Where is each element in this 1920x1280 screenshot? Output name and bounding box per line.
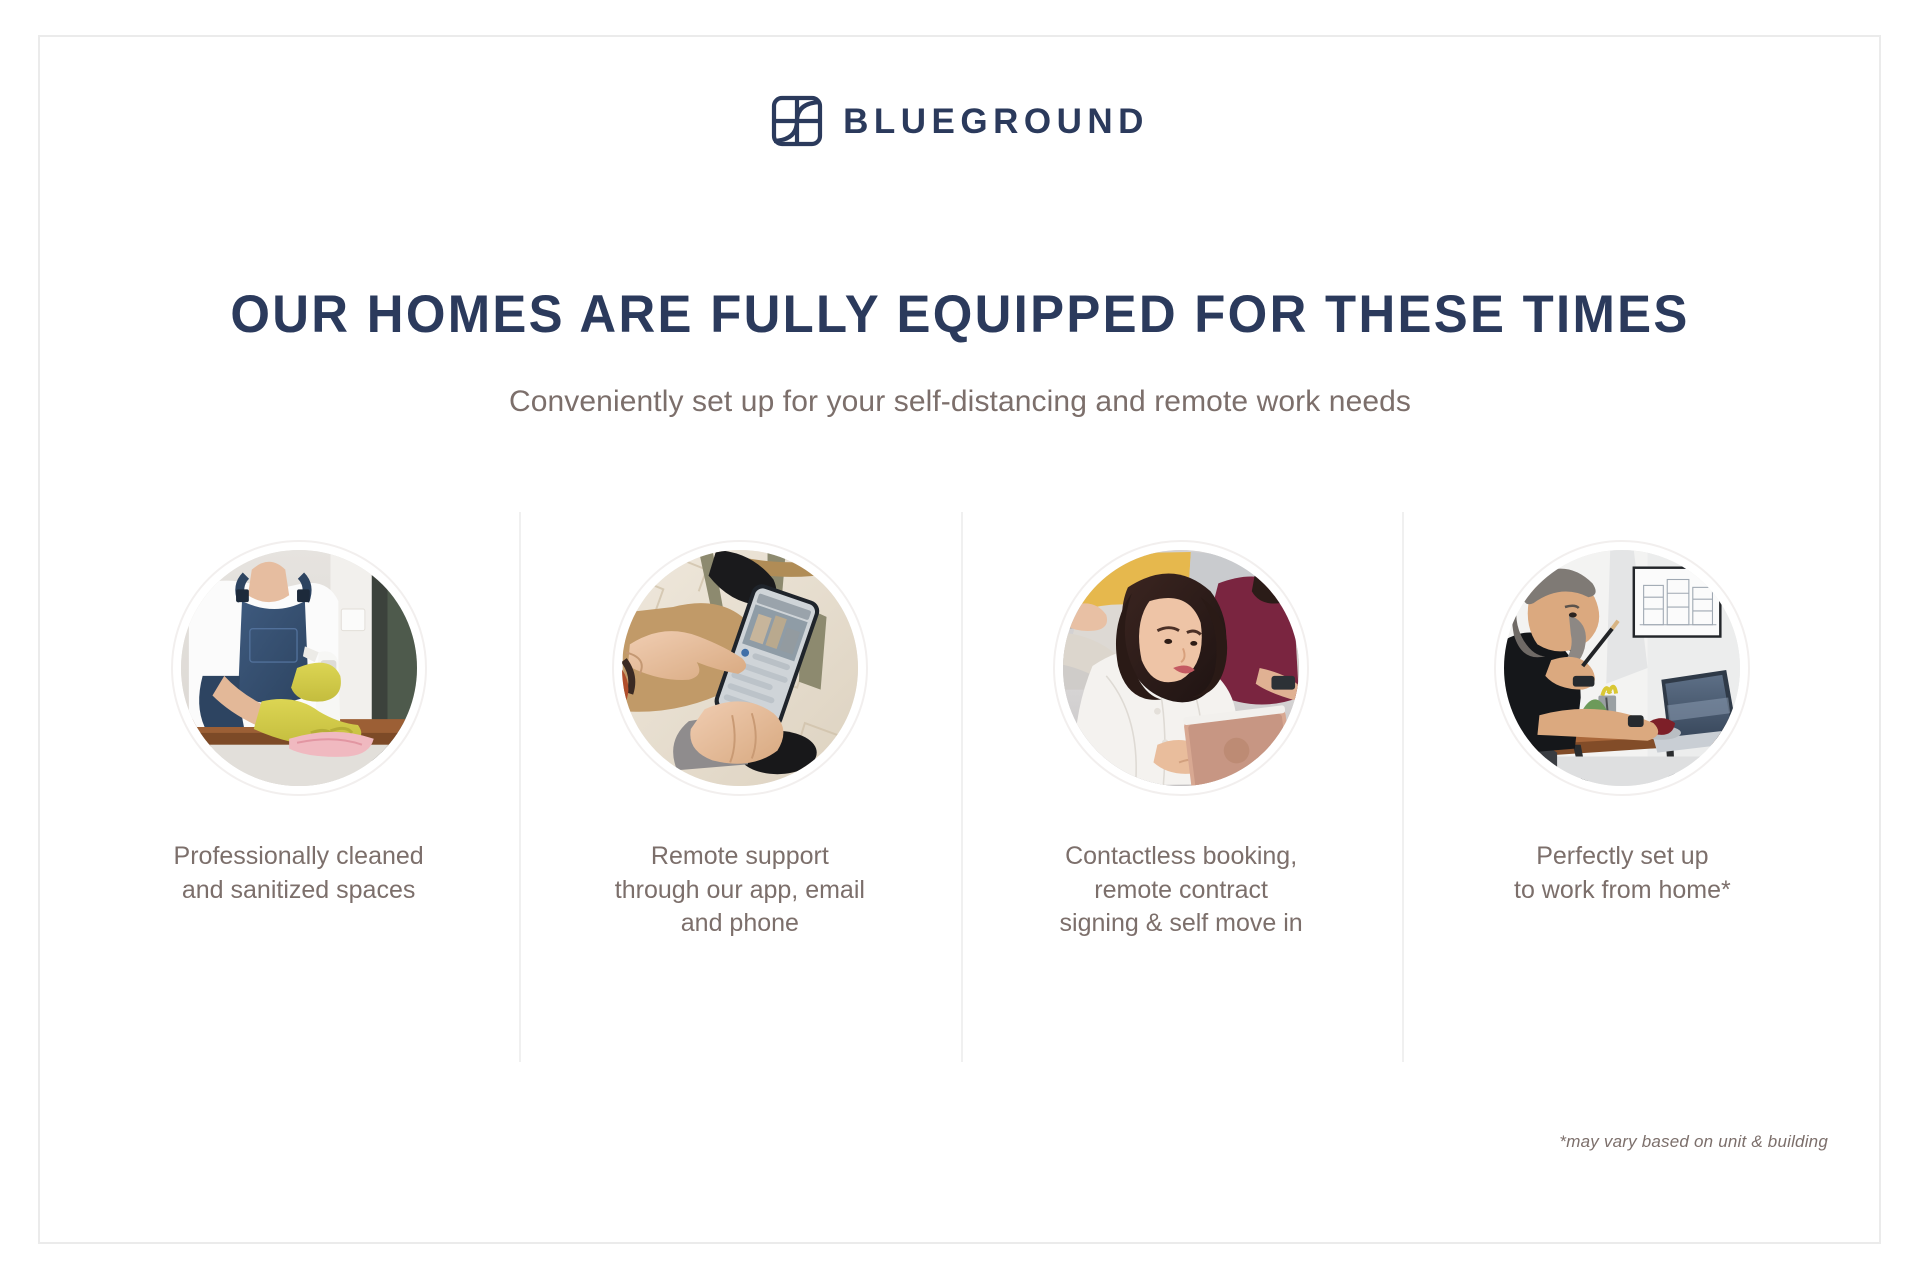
infographic-page: BLUEGROUND OUR HOMES ARE FULLY EQUIPPED … xyxy=(0,0,1920,1280)
feature-caption: Professionally cleaned and sanitized spa… xyxy=(174,840,424,907)
cleaning-photo-icon xyxy=(181,550,417,786)
tablet-booking-photo-icon xyxy=(1063,550,1299,786)
mobile-app-photo-icon xyxy=(622,550,858,786)
photo-ring xyxy=(171,540,427,796)
feature-columns: Professionally cleaned and sanitized spa… xyxy=(78,512,1843,1062)
brand-lockup: BLUEGROUND xyxy=(0,95,1920,147)
feature-card-remote-support: Remote support through our app, email an… xyxy=(519,512,960,1062)
footnote-disclaimer: *may vary based on unit & building xyxy=(1559,1132,1828,1152)
photo-ring xyxy=(1494,540,1750,796)
page-subtitle: Conveniently set up for your self-distan… xyxy=(0,385,1920,419)
page-title: OUR HOMES ARE FULLY EQUIPPED FOR THESE T… xyxy=(38,284,1881,345)
photo-ring xyxy=(612,540,868,796)
photo-ring xyxy=(1053,540,1309,796)
work-from-home-photo-icon xyxy=(1504,550,1740,786)
feature-caption: Perfectly set up to work from home* xyxy=(1514,840,1731,907)
feature-card-contactless-booking: Contactless booking, remote contract sig… xyxy=(961,512,1402,1062)
feature-card-cleaning: Professionally cleaned and sanitized spa… xyxy=(78,512,519,1062)
feature-caption: Remote support through our app, email an… xyxy=(615,840,865,941)
brand-wordmark: BLUEGROUND xyxy=(843,104,1149,139)
feature-card-work-from-home: Perfectly set up to work from home* xyxy=(1402,512,1843,1062)
feature-caption: Contactless booking, remote contract sig… xyxy=(1060,840,1303,941)
blueground-square-mark-icon xyxy=(771,95,823,147)
